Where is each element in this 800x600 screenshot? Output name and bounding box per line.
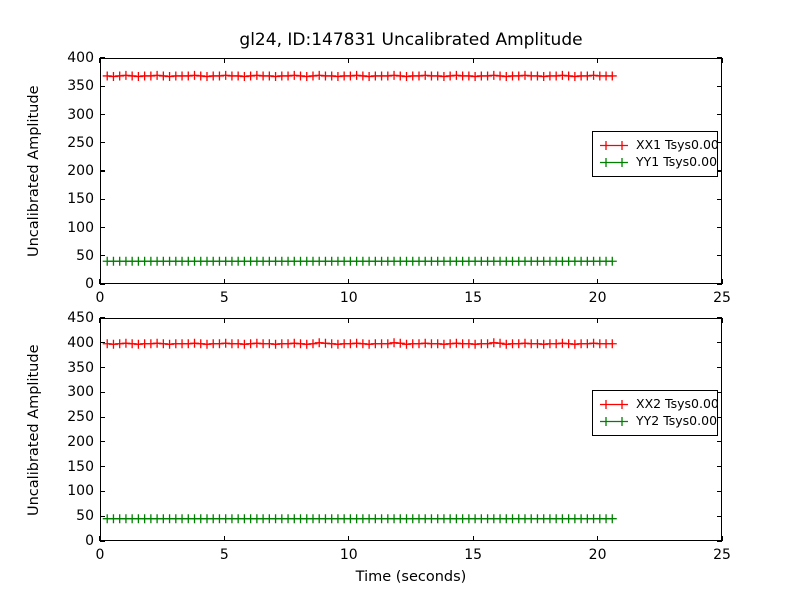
- y-tick-label: 250: [42, 409, 94, 425]
- legend-entry: YY2 Tsys0.00: [599, 413, 710, 430]
- y-tick-label: 200: [42, 163, 94, 179]
- x-tick-label: 15: [464, 290, 482, 306]
- y-tick-label: 400: [42, 335, 94, 351]
- legend-label: YY1 Tsys0.00: [636, 156, 717, 169]
- y-tick-mark: [100, 516, 105, 517]
- x-tick-mark: [99, 318, 100, 323]
- x-tick-label: 20: [589, 290, 607, 306]
- x-tick-mark: [721, 58, 722, 63]
- y-tick-mark: [100, 142, 105, 143]
- y-tick-label: 350: [42, 78, 94, 94]
- y-tick-mark: [717, 466, 722, 467]
- y-tick-mark: [100, 491, 105, 492]
- y-tick-mark: [717, 255, 722, 256]
- x-tick-label: 15: [464, 547, 482, 563]
- x-tick-mark: [348, 536, 349, 541]
- x-tick-mark: [721, 279, 722, 284]
- x-tick-label: 20: [589, 547, 607, 563]
- y-tick-mark: [100, 114, 105, 115]
- x-tick-mark: [224, 279, 225, 284]
- y-tick-mark: [717, 367, 722, 368]
- y-tick-mark: [100, 227, 105, 228]
- x-tick-label: 5: [220, 290, 229, 306]
- y-tick-label: 0: [42, 276, 94, 292]
- y-tick-mark: [717, 227, 722, 228]
- legend-marker-sample: [599, 415, 629, 428]
- legend-label: YY2 Tsys0.00: [636, 415, 717, 428]
- y-tick-mark: [100, 441, 105, 442]
- legend-entry: XX2 Tsys0.00: [599, 396, 710, 413]
- x-tick-mark: [597, 318, 598, 323]
- x-tick-mark: [473, 58, 474, 63]
- bottom-panel-legend: XX2 Tsys0.00YY2 Tsys0.00: [592, 390, 718, 436]
- y-tick-mark: [717, 86, 722, 87]
- legend-marker-sample: [599, 139, 629, 152]
- y-tick-label: 250: [42, 135, 94, 151]
- legend-label: XX1 Tsys0.00: [636, 139, 719, 152]
- x-tick-label: 10: [340, 547, 358, 563]
- y-tick-label: 100: [42, 220, 94, 236]
- y-tick-label: 200: [42, 434, 94, 450]
- y-tick-mark: [100, 417, 105, 418]
- y-tick-label: 150: [42, 459, 94, 475]
- y-tick-mark: [100, 540, 105, 541]
- series-markers: [103, 71, 617, 81]
- x-tick-label: 5: [220, 547, 229, 563]
- x-tick-mark: [473, 536, 474, 541]
- x-tick-mark: [348, 58, 349, 63]
- y-tick-label: 0: [42, 533, 94, 549]
- series-markers: [103, 514, 617, 523]
- x-tick-label: 0: [96, 290, 105, 306]
- top-panel-legend: XX1 Tsys0.00YY1 Tsys0.00: [592, 131, 718, 177]
- y-tick-label: 50: [42, 508, 94, 524]
- x-tick-mark: [348, 318, 349, 323]
- y-tick-mark: [717, 441, 722, 442]
- series-markers: [103, 338, 617, 348]
- x-axis-label: Time (seconds): [100, 569, 722, 585]
- y-tick-label: 100: [42, 483, 94, 499]
- x-tick-mark: [99, 279, 100, 284]
- x-tick-mark: [99, 58, 100, 63]
- y-tick-mark: [717, 114, 722, 115]
- x-tick-label: 10: [340, 290, 358, 306]
- y-tick-label: 350: [42, 360, 94, 376]
- y-tick-mark: [100, 199, 105, 200]
- legend-label: XX2 Tsys0.00: [636, 398, 719, 411]
- y-tick-mark: [100, 367, 105, 368]
- y-tick-mark: [717, 491, 722, 492]
- y-tick-mark: [100, 170, 105, 171]
- y-tick-mark: [100, 392, 105, 393]
- y-tick-mark: [100, 342, 105, 343]
- x-tick-mark: [473, 279, 474, 284]
- y-tick-mark: [717, 199, 722, 200]
- x-tick-mark: [348, 279, 349, 284]
- x-tick-label: 25: [713, 547, 731, 563]
- x-tick-mark: [473, 318, 474, 323]
- y-tick-mark: [717, 342, 722, 343]
- x-tick-mark: [224, 58, 225, 63]
- series-markers: [103, 257, 617, 266]
- x-tick-mark: [99, 536, 100, 541]
- y-tick-label: 400: [42, 50, 94, 66]
- matplotlib-figure: gl24, ID:147831 Uncalibrated Amplitude U…: [0, 0, 800, 600]
- y-tick-mark: [100, 466, 105, 467]
- y-tick-mark: [100, 86, 105, 87]
- x-tick-mark: [224, 536, 225, 541]
- y-tick-mark: [100, 317, 105, 318]
- y-tick-label: 450: [42, 310, 94, 326]
- y-tick-mark: [100, 283, 105, 284]
- y-tick-label: 50: [42, 248, 94, 264]
- y-tick-label: 300: [42, 384, 94, 400]
- x-tick-mark: [597, 279, 598, 284]
- y-tick-mark: [100, 57, 105, 58]
- legend-entry: YY1 Tsys0.00: [599, 154, 710, 171]
- legend-marker-sample: [599, 398, 629, 411]
- legend-marker-sample: [599, 156, 629, 169]
- bottom-panel-y-axis-label: Uncalibrated Amplitude: [26, 344, 42, 516]
- legend-entry: XX1 Tsys0.00: [599, 137, 710, 154]
- x-tick-label: 25: [713, 290, 731, 306]
- y-tick-label: 150: [42, 191, 94, 207]
- y-tick-mark: [717, 516, 722, 517]
- x-tick-mark: [721, 536, 722, 541]
- y-tick-label: 300: [42, 107, 94, 123]
- x-tick-mark: [224, 318, 225, 323]
- top-panel-y-axis-label: Uncalibrated Amplitude: [26, 86, 42, 258]
- x-tick-mark: [721, 318, 722, 323]
- x-tick-label: 0: [96, 547, 105, 563]
- y-tick-mark: [100, 255, 105, 256]
- chart-title: gl24, ID:147831 Uncalibrated Amplitude: [100, 30, 722, 50]
- x-tick-mark: [597, 536, 598, 541]
- x-tick-mark: [597, 58, 598, 63]
